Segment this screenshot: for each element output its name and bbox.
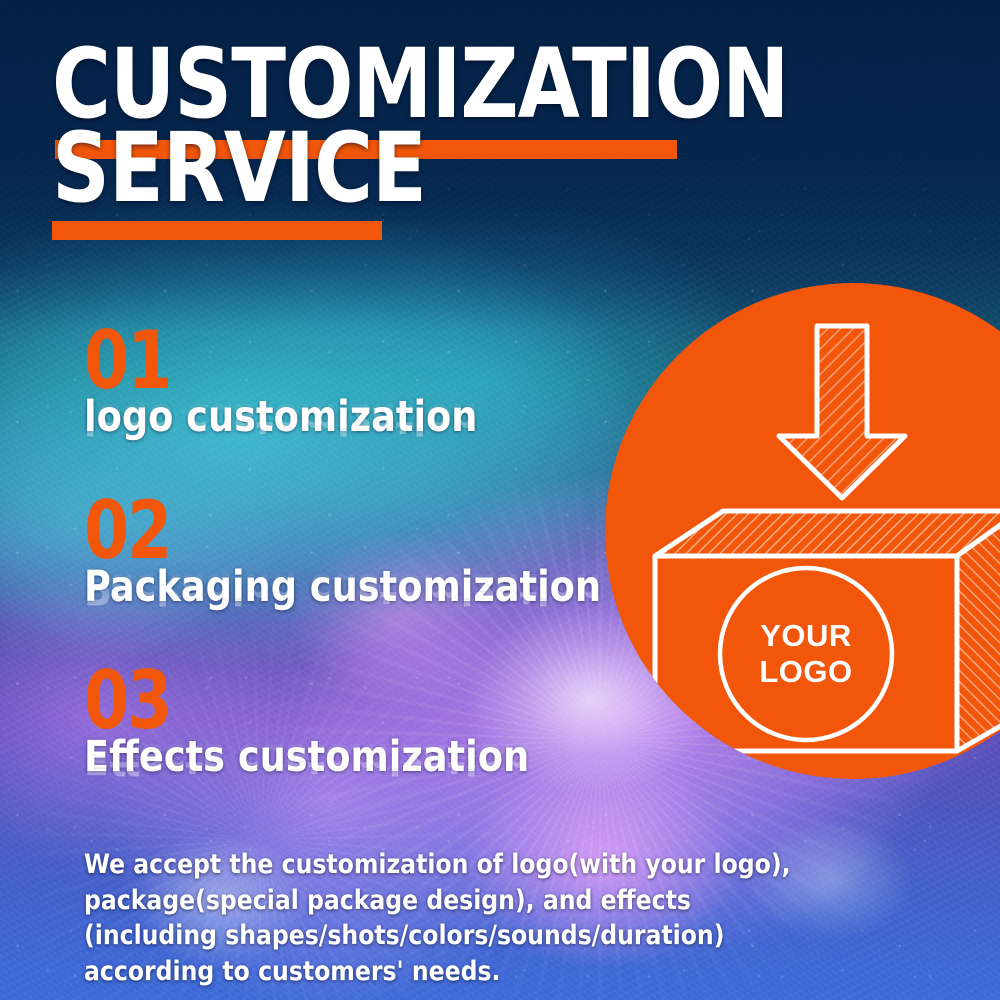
service-item-01: 01 logo customization logo customization [84,328,498,439]
service-item-03-label-wrap: Effects customization Effects customizat… [84,736,553,780]
headline-block: CUSTOMIZATION SERVICE [52,40,752,213]
service-item-02: 02 Packaging customization Packaging cus… [84,498,628,609]
customization-illustration: YOUR LOGO [605,283,1000,779]
service-item-01-label-wrap: logo customization logo customization [84,396,498,440]
service-item-02-label: Packaging customization [84,566,601,610]
orange-circle-badge: YOUR LOGO [605,283,1000,779]
headline-line-2-text: SERVICE [52,124,703,212]
service-item-03-label: Effects customization [84,736,529,780]
your-logo-line-2: LOGO [759,654,852,689]
service-item-03: 03 Effects customization Effects customi… [84,668,553,779]
service-item-01-label: logo customization [84,396,477,440]
promotional-poster: CUSTOMIZATION SERVICE 01 logo customizat… [0,0,1000,1000]
description-paragraph: We accept the customization of logo(with… [84,847,821,990]
service-item-01-number: 01 [84,328,457,394]
your-logo-line-1: YOUR [760,618,852,653]
package-box-icon: YOUR LOGO [655,511,1000,751]
service-item-02-label-wrap: Packaging customization Packaging custom… [84,566,628,610]
headline-line-2: SERVICE [52,124,752,212]
service-item-03-number: 03 [84,668,506,734]
down-arrow-icon [779,326,905,498]
service-item-02-number: 02 [84,498,574,564]
